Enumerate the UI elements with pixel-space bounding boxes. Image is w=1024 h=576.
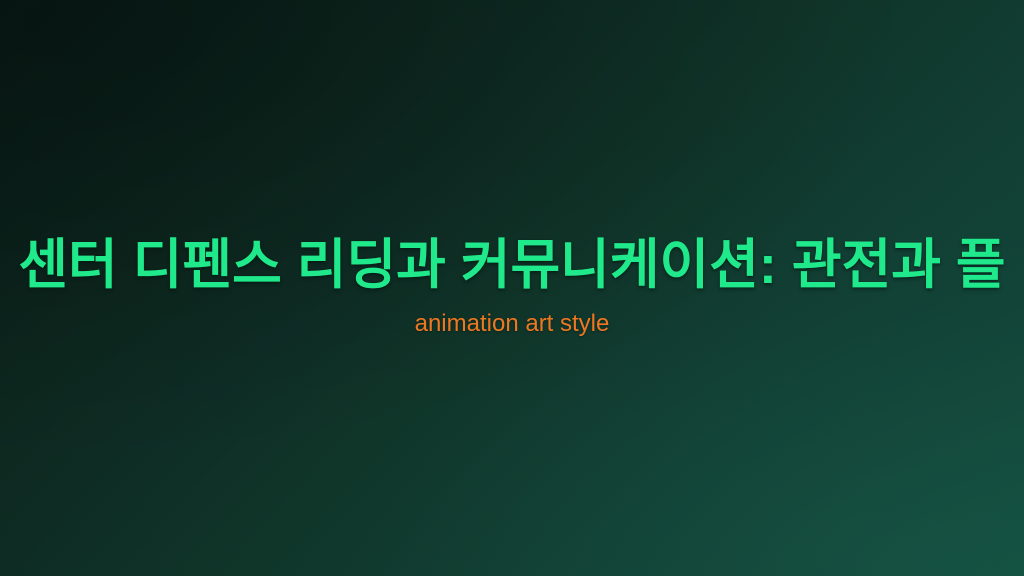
slide-subtitle: animation art style xyxy=(0,310,1024,339)
slide-title: 센터 디펜스 리딩과 커뮤니케이션: 관전과 플 xyxy=(0,237,1024,294)
title-slide: 센터 디펜스 리딩과 커뮤니케이션: 관전과 플 animation art s… xyxy=(0,0,1024,576)
title-text-block: 센터 디펜스 리딩과 커뮤니케이션: 관전과 플 animation art s… xyxy=(0,0,1024,576)
